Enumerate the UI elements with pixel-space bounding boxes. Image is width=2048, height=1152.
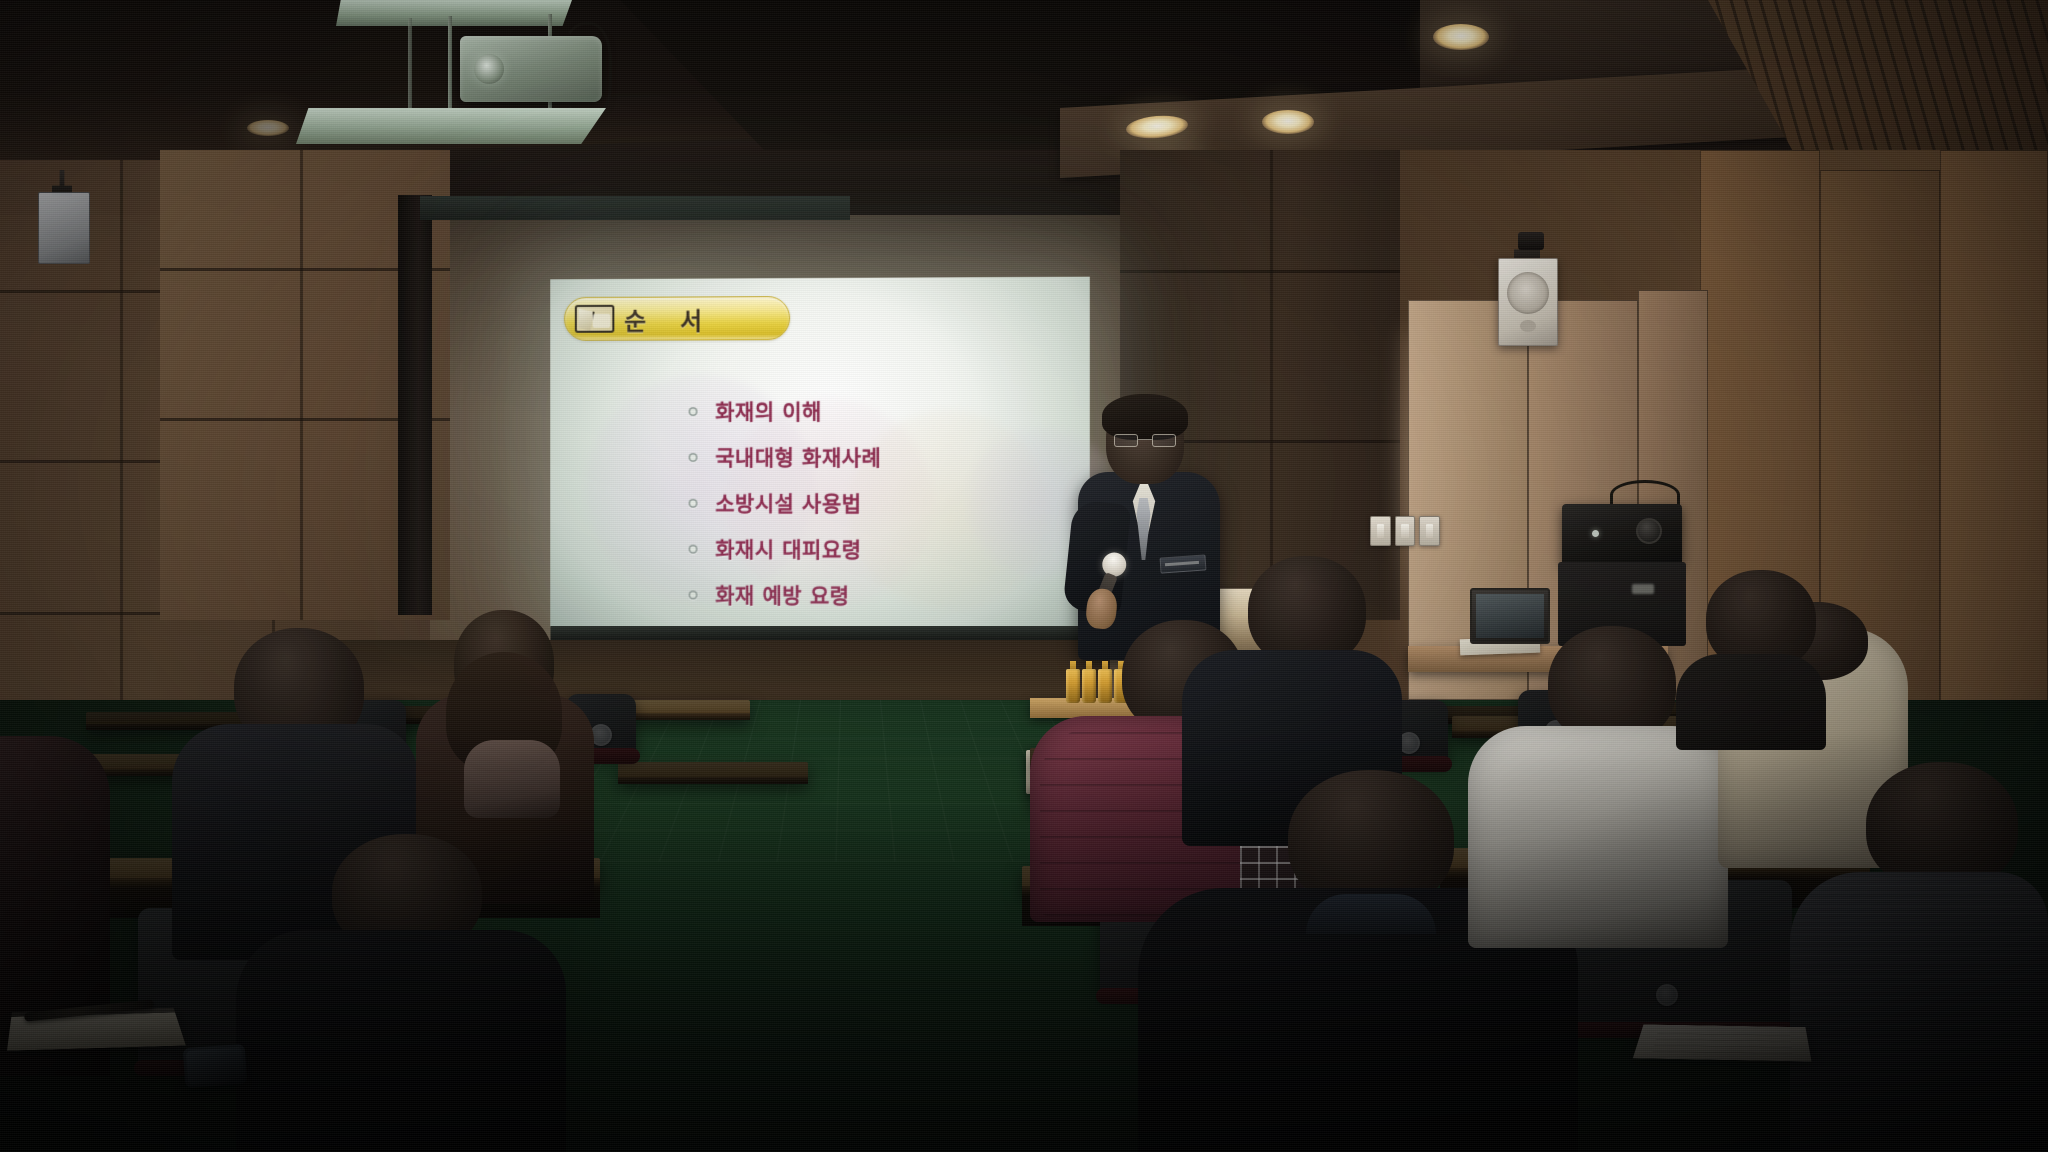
attendee-torso [236,930,566,1152]
bullet-dot-icon [689,544,698,553]
presenter-arm [1062,499,1131,614]
light-switch[interactable] [1370,516,1391,546]
agenda-item-label: 화재시 대피요령 [715,534,861,564]
video-camera-body [1562,504,1682,566]
bullet-dot-icon [689,407,698,416]
speaker-woofer-icon [1507,272,1549,314]
wall-camera [1518,232,1544,250]
phone-screen[interactable] [186,1047,244,1085]
slide-agenda-list: 화재의 이해 국내대형 화재사례 소방시설 사용법 화재시 대피요령 화재 예방… [689,388,1090,620]
projector-lens-icon [474,54,504,84]
dark-wall-column [398,195,432,615]
attendee-collar [1306,894,1436,934]
ceiling-downlight [247,120,289,136]
notebook[interactable] [1633,1024,1812,1061]
speaker-cabinet [38,192,90,264]
list-item: 화재시 대피요령 [689,526,1090,573]
agenda-item-label: 소방시설 사용법 [715,488,861,518]
projector-mount-rod [448,16,452,120]
attendee-head [1866,762,2018,890]
slide-title-banner: 순 서 [564,296,790,341]
slide-content: 순 서 화재의 이해 국내대형 화재사례 소방시설 사용법 화재시 대피요 [550,277,1090,630]
eyeglasses-icon [1114,434,1176,447]
wall-speaker-right [1498,258,1558,346]
speaker-tweeter-icon [1520,320,1536,332]
list-item: 화재 예방 요령 [689,572,1090,620]
agenda-item-label: 화재 예방 요령 [715,580,849,611]
bullet-dot-icon [689,498,698,507]
attendee-far-right-dark-hair [1676,570,1826,750]
ceiling-mounted-projector [296,0,616,150]
lecture-room-photo: 순 서 화재의 이해 국내대형 화재사례 소방시설 사용법 화재시 대피요 [0,0,2048,1152]
ceiling-downlight [1433,24,1489,50]
student-desk [630,700,750,720]
wall-speaker-left [38,192,90,264]
attendee-bottom-right-edge [1790,762,2048,1152]
attendee-torso [1790,872,2048,1152]
list-item: 화재의 이해 [689,388,1090,435]
light-switch[interactable] [1419,516,1440,546]
bullet-dot-icon [689,453,698,462]
smartphone[interactable] [183,1044,248,1088]
camera-indicator-led [1592,530,1599,537]
agenda-item-label: 화재의 이해 [715,396,822,426]
attendee-front-left-dark-jacket [236,834,566,1152]
projector-mount-plate-bottom [296,108,606,144]
agenda-item-label: 국내대형 화재사례 [715,442,881,472]
attendee-torso [1676,654,1826,750]
projector-mount-plate-top [336,0,572,26]
light-switch[interactable] [1395,516,1416,546]
projection-screen: 순 서 화재의 이해 국내대형 화재사례 소방시설 사용법 화재시 대피요 [550,277,1090,630]
bullet-dot-icon [689,590,698,599]
student-desk [618,762,808,784]
wood-wall-panel [1940,150,2048,730]
camera-lens-icon [1636,518,1662,544]
note-clipboard-icon [575,305,614,333]
attendee-scarf [464,740,560,818]
attendee-white-shirt [1468,726,1728,948]
projector-mount-rod [408,18,412,118]
slide-title: 순 서 [624,301,715,336]
list-item: 소방시설 사용법 [689,480,1090,527]
list-item: 국내대형 화재사례 [689,434,1090,480]
screen-bottom-bar [550,626,1090,640]
ceiling-downlight [1262,110,1314,134]
light-switches[interactable] [1370,516,1440,546]
screen-valance [420,196,850,220]
